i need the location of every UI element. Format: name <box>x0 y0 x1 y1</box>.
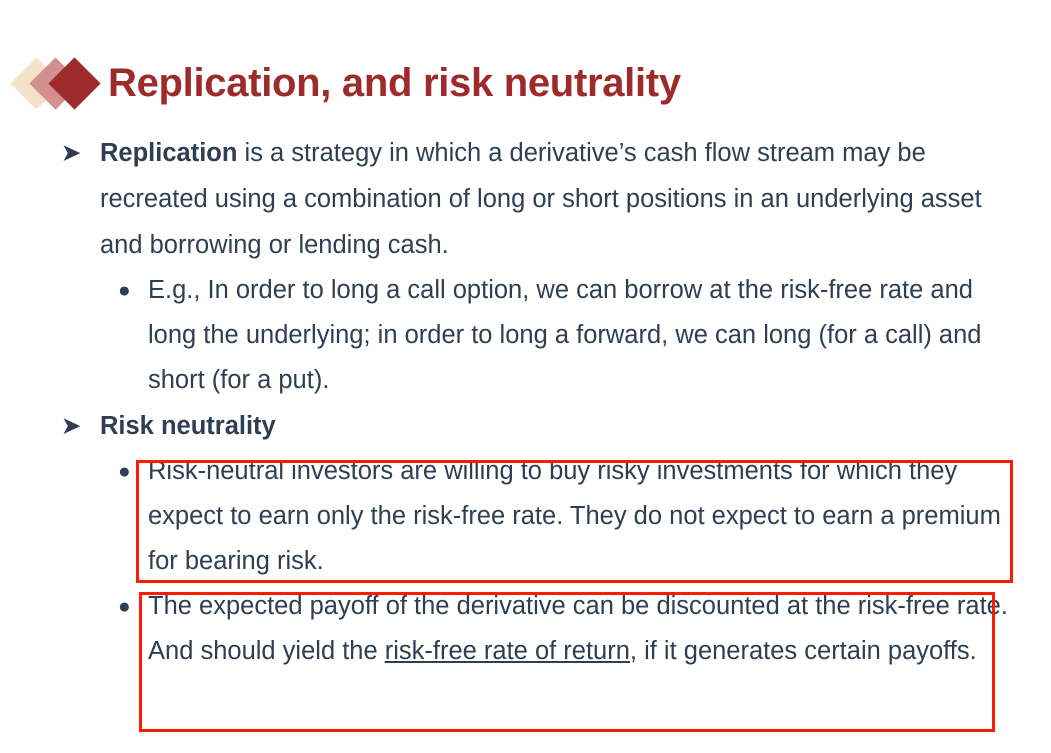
sub-bullet-example-text: E.g., In order to long a call option, we… <box>148 276 981 394</box>
dot-bullet-icon: ● <box>118 449 131 494</box>
bullet-risk-neutrality: ➤ Risk neutrality <box>0 403 1051 449</box>
page-title: Replication, and risk neutrality <box>108 63 681 103</box>
arrow-bullet-icon: ➤ <box>62 403 80 449</box>
sub-bullet-expected-payoff: ● The expected payoff of the derivative … <box>0 584 1051 674</box>
sub-bullet-expected-payoff-text-part2: , if it generates certain payoffs. <box>630 637 977 665</box>
dot-bullet-icon: ● <box>118 584 131 629</box>
slide-body: ➤ Replication is a strategy in which a d… <box>0 130 1051 674</box>
arrow-bullet-icon: ➤ <box>62 130 80 176</box>
risk-free-rate-of-return-link[interactable]: risk-free rate of return <box>385 637 630 665</box>
diamond-cluster-icon <box>14 55 106 111</box>
sub-bullet-risk-neutral-investors: ● Risk-neutral investors are willing to … <box>0 449 1051 584</box>
bullet-risk-neutrality-lead: Risk neutrality <box>100 412 276 440</box>
bullet-replication: ➤ Replication is a strategy in which a d… <box>0 130 1051 268</box>
bullet-replication-lead: Replication <box>100 139 237 167</box>
dot-bullet-icon: ● <box>118 268 131 313</box>
slide-title-row: Replication, and risk neutrality <box>0 52 681 114</box>
sub-bullet-risk-neutral-investors-text: Risk-neutral investors are willing to bu… <box>148 457 1001 575</box>
sub-bullet-example: ● E.g., In order to long a call option, … <box>0 268 1051 403</box>
